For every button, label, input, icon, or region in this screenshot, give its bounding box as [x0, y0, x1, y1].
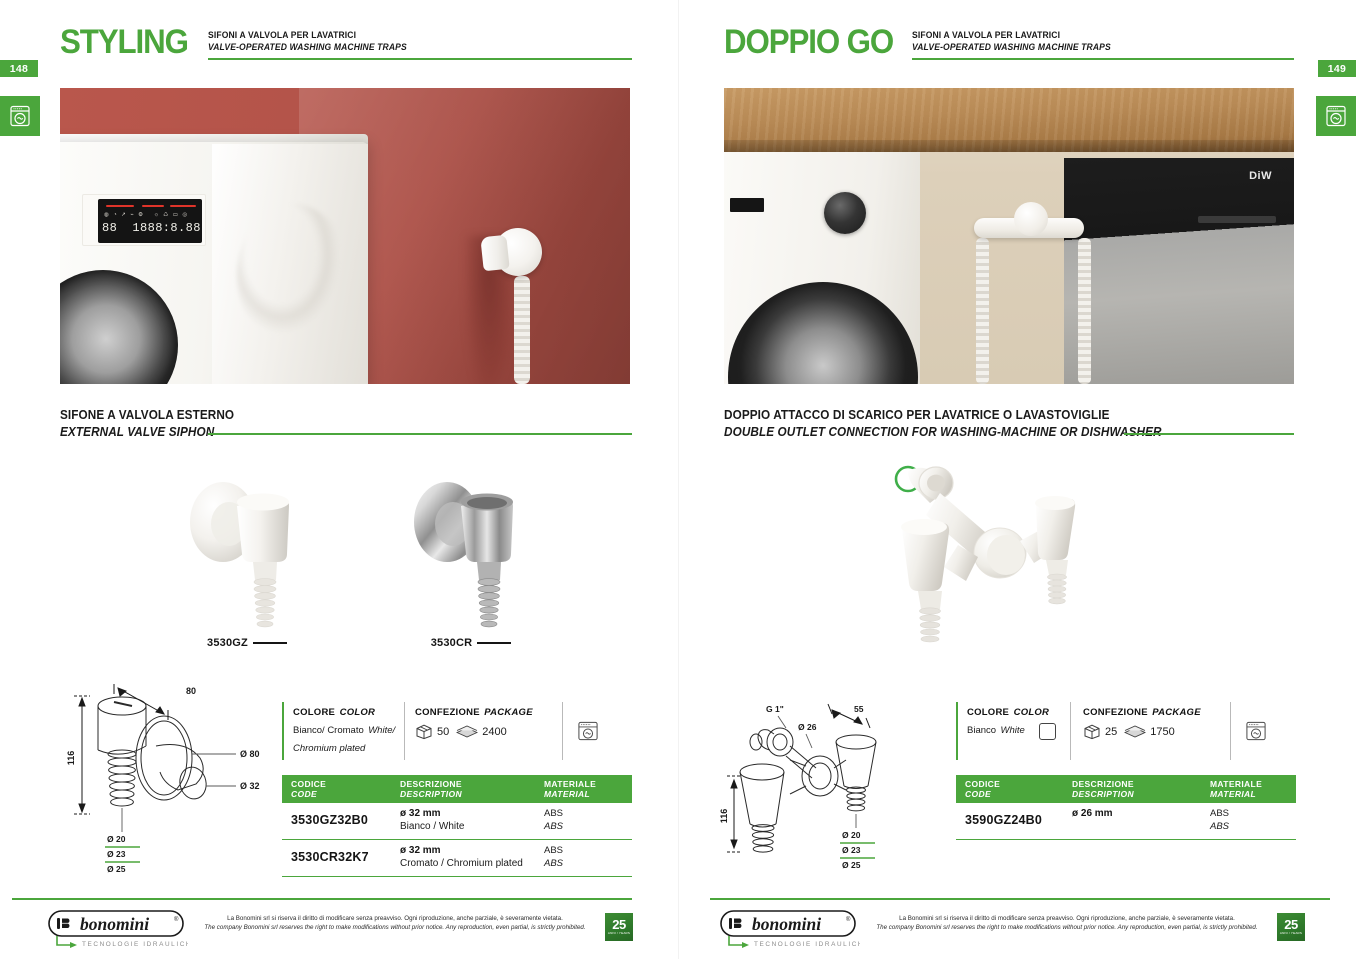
page-title: STYLING [60, 24, 188, 60]
color-swatch-cell [1030, 702, 1064, 760]
cell-code: 3530GZ32B0 [291, 813, 368, 827]
page-right: DOPPIO GO SIFONI A VALVOLA PER LAVATRICI… [678, 0, 1356, 959]
col-mat-en: MATERIAL [1210, 790, 1262, 800]
brand-logo: bonomini ® TECNOLOGIE IDRAULICHE [720, 910, 860, 953]
dim-depth-label: 80 [186, 686, 196, 696]
col-desc-en: DESCRIPTION [400, 790, 462, 800]
col-desc-en: DESCRIPTION [1072, 790, 1134, 800]
footer-right: bonomini ® TECNOLOGIE IDRAULICHE La Bono… [720, 908, 1320, 952]
color-cell: COLORE COLOR Bianco/ Cromato White/ Chro… [284, 702, 402, 760]
table-row[interactable]: 3590GZ24B0 ø 26 mm ABS ABS [956, 803, 1296, 840]
section-title-left: SIFONE A VALVOLA ESTERNO EXTERNAL VALVE … [60, 408, 632, 441]
outlet-3-label: Ø 25 [842, 860, 861, 870]
siphon-white-illustration [177, 462, 317, 637]
product-table-left: CODICE CODE DESCRIZIONE DESCRIPTION MATE… [282, 775, 632, 877]
appliance-cell [1236, 702, 1296, 760]
table-header: CODICE CODE DESCRIZIONE DESCRIPTION MATE… [282, 775, 632, 803]
package-label-it: CONFEZIONE [1083, 707, 1148, 718]
hero-photo-washing-machine: ◍ ◔ ↗ ⌁ ⚙ ☼ ♺ ▭ ◎ 88 1888:8.88 [60, 88, 630, 384]
legal-en: The company Bonomini srl reserves the ri… [872, 923, 1262, 932]
svg-text:®: ® [846, 916, 851, 923]
package-label-it: CONFEZIONE [415, 707, 480, 718]
badge-text: ANNI / YEARS [608, 931, 630, 935]
product-table-right: CODICE CODE DESCRIZIONE DESCRIPTION MATE… [956, 775, 1296, 840]
table-header: CODICE CODE DESCRIZIONE DESCRIPTION MATE… [956, 775, 1296, 803]
col-code-en: CODE [965, 790, 1000, 800]
outlet-2-label: Ø 23 [107, 849, 126, 859]
package-pallet-qty: 2400 [482, 726, 506, 738]
washing-machine-icon [577, 721, 599, 741]
product-render-3530GZ: 3530GZ [172, 462, 322, 649]
section-title-en: DOUBLE OUTLET CONNECTION FOR WASHING-MAC… [724, 425, 1162, 440]
svg-text:TECNOLOGIE IDRAULICHE: TECNOLOGIE IDRAULICHE [754, 941, 860, 948]
package-pallet-qty: 1750 [1150, 726, 1174, 738]
package-box-qty: 50 [437, 726, 449, 738]
badge-text: ANNI / YEARS [1280, 931, 1302, 935]
anniversary-badge: 25 ANNI / YEARS [1276, 912, 1306, 942]
section-title-right: DOPPIO ATTACCO DI SCARICO PER LAVATRICE … [724, 408, 1294, 441]
cell-code: 3590GZ24B0 [965, 813, 1042, 827]
table-row[interactable]: 3530GZ32B0 ø 32 mm Bianco / White ABS AB… [282, 803, 632, 840]
svg-text:TECNOLOGIE IDRAULICHE: TECNOLOGIE IDRAULICHE [82, 941, 188, 948]
footer-rule [12, 898, 632, 900]
cell-desc-1: ø 26 mm [1072, 807, 1113, 820]
page-subtitle: SIFONI A VALVOLA PER LAVATRICI VALVE-OPE… [208, 30, 429, 54]
dim-d32-label: Ø 32 [240, 781, 260, 791]
svg-text:®: ® [174, 916, 179, 923]
cell-mat-1: ABS [544, 844, 563, 857]
dim-height-label: 116 [66, 751, 76, 766]
color-value-it: Bianco/ Cromato [293, 725, 364, 736]
cell-mat-1: ABS [1210, 807, 1229, 820]
technical-drawing-left: 116 80 Ø 80 Ø [60, 680, 272, 875]
color-label-en: COLOR [340, 707, 376, 718]
cell-mat-2: ABS [544, 820, 563, 833]
render-code-label: 3530GZ [172, 637, 322, 649]
color-value-en: White [1001, 725, 1025, 736]
cell-desc-1: ø 32 mm [400, 844, 523, 857]
outlet-2-label: Ø 23 [842, 845, 861, 855]
badge-number: 25 [1284, 919, 1297, 931]
section-title-it: SIFONE A VALVOLA ESTERNO [60, 408, 598, 423]
legal-it: La Bonomini srl si riserva il diritto di… [200, 914, 590, 923]
white-swatch [1039, 723, 1056, 740]
technical-drawing-right: G 1" Ø 26 55 [720, 698, 932, 876]
brand-logo: bonomini ® TECNOLOGIE IDRAULICHE [48, 910, 188, 953]
catalog-spread: 148 STYLING SIFONI A VALVOLA PER LAVATRI… [0, 0, 1356, 959]
pallet-icon [456, 725, 478, 738]
outlet-1-label: Ø 20 [107, 834, 126, 844]
cell-desc-2: Cromato / Chromium plated [400, 857, 523, 870]
color-value-it: Bianco [967, 725, 996, 736]
page-subtitle: SIFONI A VALVOLA PER LAVATRICI VALVE-OPE… [912, 30, 1133, 54]
cell-mat-2: ABS [544, 857, 563, 870]
color-label-it: COLORE [293, 707, 335, 718]
info-box-left: COLORE COLOR Bianco/ Cromato White/ Chro… [282, 702, 632, 760]
washing-machine-icon [1245, 721, 1267, 741]
double-outlet-illustration [874, 457, 1094, 657]
pallet-icon [1124, 725, 1146, 738]
col-code-en: CODE [291, 790, 326, 800]
footer-left: bonomini ® TECNOLOGIE IDRAULICHE La Bono… [48, 908, 648, 952]
legal-text: La Bonomini srl si riserva il diritto di… [872, 914, 1262, 932]
product-renders-right [724, 462, 1294, 672]
subtitle-it: SIFONI A VALVOLA PER LAVATRICI [208, 30, 407, 42]
package-cell: CONFEZIONE PACKAGE 50 2400 [406, 702, 556, 760]
legal-it: La Bonomini srl si riserva il diritto di… [872, 914, 1262, 923]
header-rule [208, 58, 632, 60]
product-render-3590GZ [874, 457, 1094, 657]
page-left: STYLING SIFONI A VALVOLA PER LAVATRICI V… [0, 0, 678, 959]
cell-desc-2: Bianco / White [400, 820, 464, 833]
dim-55-label: 55 [854, 704, 864, 714]
dim-thread-label: G 1" [766, 704, 784, 714]
table-row[interactable]: 3530CR32K7 ø 32 mm Cromato / Chromium pl… [282, 840, 632, 877]
dim-d26-label: Ø 26 [798, 722, 817, 732]
section-title-it: DOPPIO ATTACCO DI SCARICO PER LAVATRICE … [724, 408, 1260, 423]
package-box-qty: 25 [1105, 726, 1117, 738]
siphon-chrome-illustration [401, 462, 541, 637]
dim-d80-label: Ø 80 [240, 749, 260, 759]
box-icon [1083, 723, 1101, 740]
hero-photo-kitchen: DiW [724, 88, 1294, 384]
product-renders-left: 3530GZ [60, 462, 632, 672]
product-render-3530CR: 3530CR [396, 462, 546, 649]
footer-rule [710, 898, 1330, 900]
appliance-cell [568, 702, 628, 760]
page-header-right: DOPPIO GO SIFONI A VALVOLA PER LAVATRICI… [724, 24, 1294, 70]
package-label-en: PACKAGE [1152, 707, 1201, 718]
info-box-right: COLORE COLOR Bianco White CONFEZIONE PAC… [956, 702, 1296, 760]
cell-desc-1: ø 32 mm [400, 807, 464, 820]
appliance-brand-label: DiW [1249, 170, 1272, 182]
col-mat-en: MATERIAL [544, 790, 596, 800]
anniversary-badge: 25 ANNI / YEARS [604, 912, 634, 942]
box-icon [415, 723, 433, 740]
dim-height-label: 116 [720, 809, 729, 824]
header-rule [912, 58, 1294, 60]
page-title: DOPPIO GO [724, 24, 893, 60]
outlet-1-label: Ø 20 [842, 830, 861, 840]
subtitle-en: VALVE-OPERATED WASHING MACHINE TRAPS [912, 42, 1111, 54]
badge-number: 25 [612, 919, 625, 931]
svg-text:bonomini: bonomini [80, 914, 149, 934]
page-header-left: STYLING SIFONI A VALVOLA PER LAVATRICI V… [60, 24, 632, 70]
package-cell: CONFEZIONE PACKAGE 25 1750 [1074, 702, 1224, 760]
cell-mat-2: ABS [1210, 820, 1229, 833]
outlet-3-label: Ø 25 [107, 864, 126, 874]
legal-en: The company Bonomini srl reserves the ri… [200, 923, 590, 932]
legal-text: La Bonomini srl si riserva il diritto di… [200, 914, 590, 932]
color-label-it: COLORE [967, 707, 1009, 718]
cell-code: 3530CR32K7 [291, 850, 369, 864]
package-label-en: PACKAGE [484, 707, 533, 718]
svg-text:bonomini: bonomini [752, 914, 821, 934]
cell-mat-1: ABS [544, 807, 563, 820]
subtitle-en: VALVE-OPERATED WASHING MACHINE TRAPS [208, 42, 407, 54]
render-code-label: 3530CR [396, 637, 546, 649]
section-title-en: EXTERNAL VALVE SIPHON [60, 425, 214, 440]
subtitle-it: SIFONI A VALVOLA PER LAVATRICI [912, 30, 1111, 42]
